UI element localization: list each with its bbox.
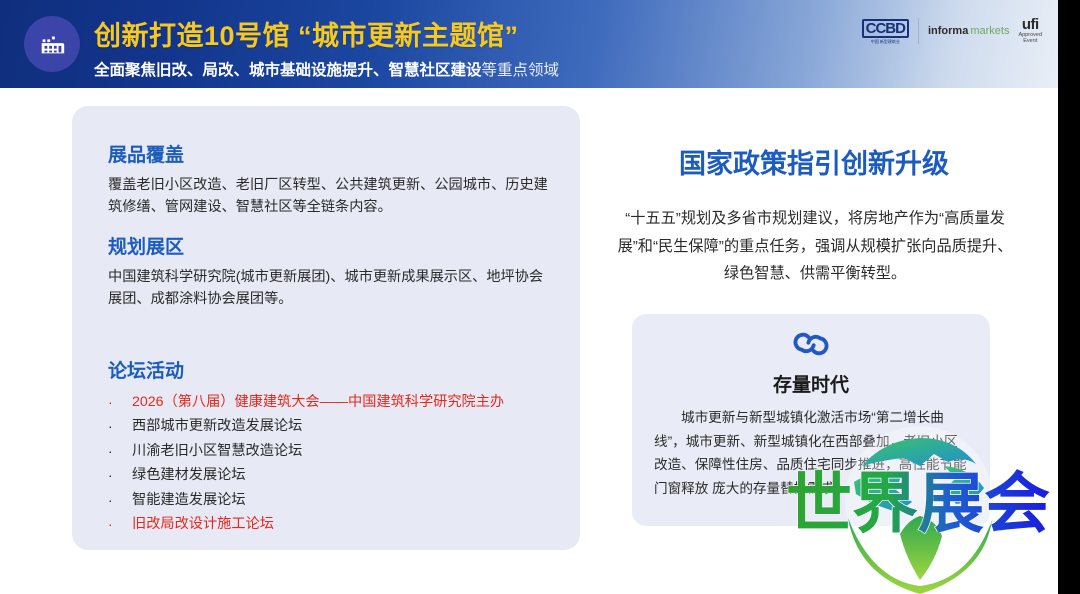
ufi-logo: ufi Approved Event [1018, 17, 1042, 44]
subtitle-strong: 旧改、局改、城市基础设施提升、智慧社区建设 [156, 62, 482, 79]
section-title: 规划展区 [108, 232, 554, 259]
ufi-event: Event [1023, 39, 1037, 45]
page-title: 创新打造10号馆 “城市更新主题馆” [94, 14, 519, 53]
stock-era-card: 存量时代 城市更新与新型城镇化激活市场“第二增长曲线”，城市更新、新型城镇化在西… [632, 314, 990, 526]
stock-era-body: 城市更新与新型城镇化激活市场“第二增长曲线”，城市更新、新型城镇化在西部叠加，老… [654, 406, 968, 501]
bullet-glyph: · [108, 512, 122, 536]
section-forum-activities: 论坛活动 ·2026（第八届）健康建筑大会——中国建筑科学研究院主办 ·西部城市… [108, 356, 504, 537]
stock-era-title: 存量时代 [632, 370, 990, 397]
bullet-glyph: · [108, 439, 122, 463]
section-body: 覆盖老旧小区改造、老旧厂区转型、公共建筑更新、公园城市、历史建筑修缮、管网建设、… [108, 174, 554, 219]
list-item[interactable]: ·绿色建材发展论坛 [108, 463, 504, 487]
section-planned-zones: 规划展区 中国建筑科学研究院(城市更新展团)、城市更新成果展示区、地坪协会展团、… [108, 232, 554, 311]
list-item[interactable]: ·川渝老旧小区智慧改造论坛 [108, 439, 504, 463]
subtitle-emphasis: 全面聚焦 [94, 62, 156, 79]
factory-icon [24, 16, 80, 72]
brand-logos: CCBD 中国 新型建筑业 informa markets ufi Approv… [862, 14, 1042, 48]
section-title: 展品覆盖 [108, 140, 554, 167]
list-item[interactable]: ·西部城市更新改造发展论坛 [108, 414, 504, 438]
list-item-label: 2026（第八届）健康建筑大会——中国建筑科学研究院主办 [122, 390, 504, 414]
informa-word: informa [928, 25, 968, 37]
list-item-label: 绿色建材发展论坛 [122, 463, 246, 487]
list-item[interactable]: ·2026（第八届）健康建筑大会——中国建筑科学研究院主办 [108, 390, 504, 414]
section-body: 中国建筑科学研究院(城市更新展团)、城市更新成果展示区、地坪协会展团、成都涂料协… [108, 266, 554, 311]
right-panel-paragraph: “十五五”规划及多省市规划建议，将房地产作为“高质量发展”和“民生保障”的重点任… [616, 205, 1014, 288]
list-item-label: 西部城市更新改造发展论坛 [122, 414, 302, 438]
right-panel-title: 国家政策指引创新升级 [638, 142, 990, 181]
markets-word: markets [970, 25, 1009, 37]
ccbd-logo: CCBD 中国 新型建筑业 [862, 19, 909, 44]
bullet-glyph: · [108, 390, 122, 414]
brand-divider [918, 18, 919, 44]
header-subtitle: 全面聚焦旧改、局改、城市基础设施提升、智慧社区建设等重点领域 [94, 58, 559, 80]
list-item[interactable]: ·旧改局改设计施工论坛 [108, 512, 504, 536]
bullet-glyph: · [108, 488, 122, 512]
ufi-mark: ufi [1022, 17, 1039, 33]
section-exhibit-coverage: 展品覆盖 覆盖老旧小区改造、老旧厂区转型、公共建筑更新、公园城市、历史建筑修缮、… [108, 140, 554, 219]
right-black-gutter [1058, 0, 1080, 594]
list-item[interactable]: ·智能建造发展论坛 [108, 488, 504, 512]
slide-header: 创新打造10号馆 “城市更新主题馆” 全面聚焦旧改、局改、城市基础设施提升、智慧… [0, 0, 1080, 88]
list-item-label: 旧改局改设计施工论坛 [122, 512, 274, 536]
informa-markets-logo: informa markets [928, 25, 1009, 37]
list-item-label: 智能建造发展论坛 [122, 488, 246, 512]
ccbd-mark: CCBD [862, 19, 909, 38]
subtitle-plain: 等重点领域 [482, 62, 560, 79]
slide-canvas: 创新打造10号馆 “城市更新主题馆” 全面聚焦旧改、局改、城市基础设施提升、智慧… [0, 0, 1080, 594]
chain-link-icon [632, 326, 990, 362]
bullet-glyph: · [108, 414, 122, 438]
forum-list: ·2026（第八届）健康建筑大会——中国建筑科学研究院主办 ·西部城市更新改造发… [108, 390, 504, 537]
ccbd-sub: 中国 新型建筑业 [871, 40, 900, 44]
bullet-glyph: · [108, 463, 122, 487]
section-title: 论坛活动 [108, 356, 504, 383]
left-info-card: 展品覆盖 覆盖老旧小区改造、老旧厂区转型、公共建筑更新、公园城市、历史建筑修缮、… [72, 106, 580, 550]
list-item-label: 川渝老旧小区智慧改造论坛 [122, 439, 302, 463]
